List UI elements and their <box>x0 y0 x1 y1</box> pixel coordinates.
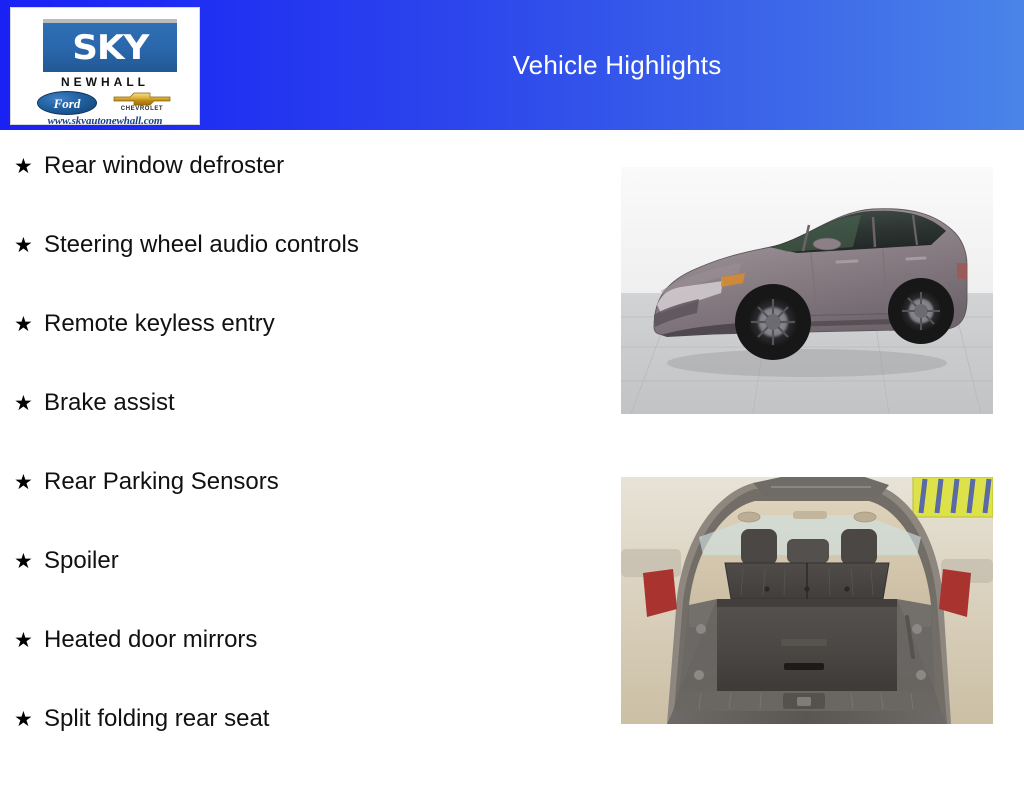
feature-label: Rear Parking Sensors <box>44 470 279 494</box>
taillight <box>957 263 967 279</box>
ford-logo-text: Ford <box>54 97 81 110</box>
front-wheel <box>735 284 811 360</box>
right-tiedown <box>912 624 922 634</box>
ford-logo-icon: Ford <box>37 91 97 115</box>
feature-label: Brake assist <box>44 391 175 415</box>
feature-label: Steering wheel audio controls <box>44 233 359 257</box>
left-taillight <box>643 569 677 617</box>
chevrolet-logo-text: CHEVROLET <box>111 106 173 112</box>
vehicle-highlights-list: ★ Rear window defroster ★ Steering wheel… <box>0 130 600 786</box>
star-bullet-icon: ★ <box>14 314 44 335</box>
right-taillight <box>939 569 971 617</box>
rear-bumper-step <box>667 711 947 724</box>
star-bullet-icon: ★ <box>14 235 44 256</box>
feature-label: Rear window defroster <box>44 154 284 178</box>
right-side-panel <box>897 599 935 691</box>
oem-brand-row: Ford CHEVROLET <box>15 90 195 116</box>
dealer-logo-inner: SKY NEWHALL Ford <box>15 12 195 120</box>
list-item: ★ Remote keyless entry <box>0 312 600 391</box>
feature-label: Spoiler <box>44 549 119 573</box>
chevrolet-bowtie-icon <box>113 91 171 106</box>
sky-brand-box: SKY <box>43 19 177 72</box>
rear-wheel <box>888 278 954 344</box>
dealer-website-text: www.skyautonewhall.com <box>15 115 195 125</box>
dealer-location-text: NEWHALL <box>15 75 195 89</box>
vehicle-exterior-photo[interactable] <box>621 167 993 414</box>
cargo-badge <box>781 639 827 646</box>
left-tiedown <box>696 624 706 634</box>
star-bullet-icon: ★ <box>14 630 44 651</box>
list-item: ★ Split folding rear seat <box>0 707 600 786</box>
star-bullet-icon: ★ <box>14 551 44 572</box>
dealer-logo[interactable]: SKY NEWHALL Ford <box>10 7 200 125</box>
list-item: ★ Brake assist <box>0 391 600 470</box>
star-bullet-icon: ★ <box>14 393 44 414</box>
star-bullet-icon: ★ <box>14 156 44 177</box>
feature-label: Heated door mirrors <box>44 628 257 652</box>
chevrolet-logo-icon: CHEVROLET <box>111 90 173 116</box>
vehicle-cargo-photo[interactable] <box>621 477 993 724</box>
star-bullet-icon: ★ <box>14 709 44 730</box>
page-title: Vehicle Highlights <box>210 0 1024 130</box>
list-item: ★ Steering wheel audio controls <box>0 233 600 312</box>
yellow-sign <box>913 477 993 517</box>
list-item: ★ Rear Parking Sensors <box>0 470 600 549</box>
side-mirror <box>813 238 841 250</box>
floor-latch-slot <box>784 663 824 670</box>
feature-label: Remote keyless entry <box>44 312 275 336</box>
vehicle-shadow <box>667 349 947 377</box>
feature-label: Split folding rear seat <box>44 707 269 731</box>
sky-brand-text: SKY <box>72 31 148 65</box>
list-item: ★ Heated door mirrors <box>0 628 600 707</box>
list-item: ★ Rear window defroster <box>0 154 600 233</box>
star-bullet-icon: ★ <box>14 472 44 493</box>
list-item: ★ Spoiler <box>0 549 600 628</box>
